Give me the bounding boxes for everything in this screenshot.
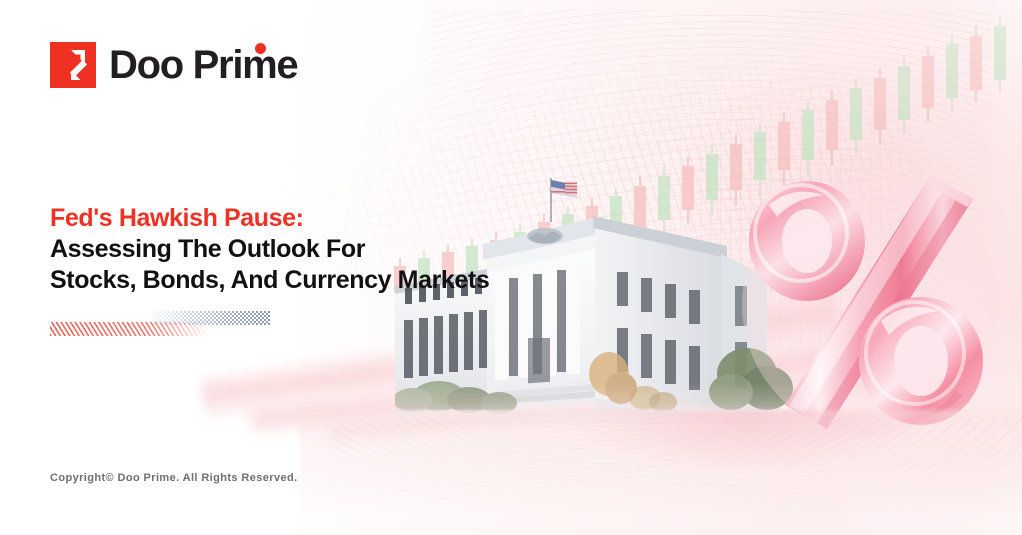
doo-prime-logo[interactable]: Doo Prime xyxy=(50,42,297,88)
doo-prime-wordmark: Doo Prime xyxy=(109,45,297,85)
copyright-text: Copyright© Doo Prime. All Rights Reserve… xyxy=(50,472,298,484)
headline-block: Fed's Hawkish Pause: Assessing The Outlo… xyxy=(50,203,570,296)
headline-line-3: Stocks, Bonds, And Currency Markets xyxy=(50,265,570,296)
headline-line-1: Fed's Hawkish Pause: xyxy=(50,203,570,234)
promo-banner: Doo Prime Fed's Hawkish Pause: Assessing… xyxy=(0,0,1022,535)
percent-symbol-graphic xyxy=(735,165,1005,440)
decorative-bands xyxy=(50,311,270,337)
red-hatch-band xyxy=(50,322,210,336)
wordmark-text: Doo Prime xyxy=(109,43,297,87)
headline-line-2: Assessing The Outlook For xyxy=(50,234,570,265)
doo-prime-mark-icon xyxy=(50,42,96,88)
wordmark-i-dot xyxy=(255,43,266,54)
